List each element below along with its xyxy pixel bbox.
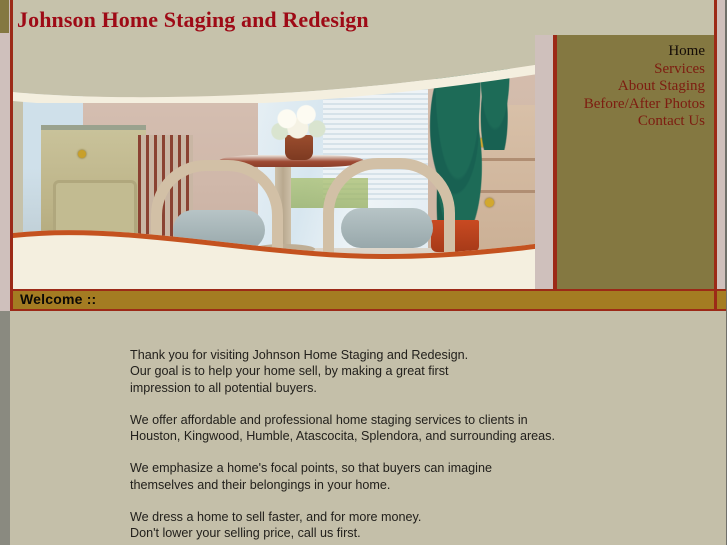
photo-cabinet-panel [53, 180, 137, 280]
section-title: Welcome :: [20, 291, 96, 307]
nav-item-home[interactable]: Home [584, 43, 705, 61]
frame-strip-left [0, 0, 10, 292]
section-bar-rule-left [10, 289, 13, 311]
nav-item-contact-us[interactable]: Contact Us [584, 113, 705, 131]
page-root: Johnson Home Staging and Redesign Home S… [0, 0, 727, 545]
frame-rule-right [714, 0, 717, 292]
hero-photo-canvas [23, 30, 548, 280]
paragraph-focal: We emphasize a home's focal points, so t… [130, 460, 690, 493]
photo-flower-bouquet [269, 102, 329, 144]
paragraph-intro: Thank you for visiting Johnson Home Stag… [130, 347, 690, 396]
frame-corner-olive [0, 0, 9, 33]
nav-item-about-staging[interactable]: About Staging [584, 78, 705, 96]
photo-cabinet-knob [78, 150, 86, 158]
paragraph-dress: We dress a home to sell faster, and for … [130, 509, 690, 542]
paragraph-services: We offer affordable and professional hom… [130, 412, 690, 445]
hero-image [23, 30, 548, 280]
nav-panel: Home Services About Staging Before/After… [557, 35, 714, 292]
main-content: Thank you for visiting Johnson Home Stag… [13, 311, 726, 545]
photo-chair-1-back [151, 160, 283, 267]
section-bar-rule-right [714, 289, 717, 311]
nav-item-before-after-photos[interactable]: Before/After Photos [584, 96, 705, 114]
welcome-copy: Thank you for visiting Johnson Home Stag… [130, 347, 690, 542]
section-bar-gutter [0, 289, 10, 311]
section-bar [10, 289, 726, 311]
photo-chair-2-back [323, 158, 455, 267]
main-navigation: Home Services About Staging Before/After… [584, 43, 705, 131]
nav-frame-gap [535, 35, 553, 292]
photo-cactus-small [475, 40, 515, 150]
body-left-gutter [0, 311, 10, 545]
page-title: Johnson Home Staging and Redesign [17, 7, 369, 33]
nav-item-services[interactable]: Services [584, 61, 705, 79]
